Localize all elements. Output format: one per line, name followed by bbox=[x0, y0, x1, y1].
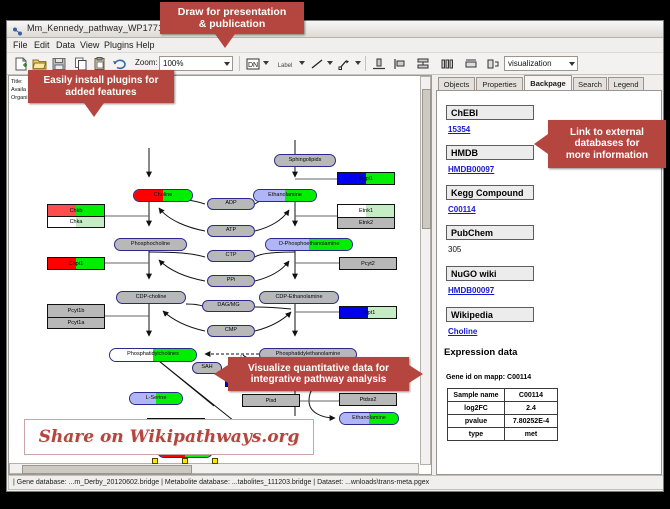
cell-pvalue-val: 7.80252E-4 bbox=[505, 415, 558, 428]
gene-row-pisd[interactable]: Pisd bbox=[243, 395, 299, 406]
menu-data[interactable]: Data bbox=[56, 40, 75, 50]
stack-vertical-icon[interactable] bbox=[415, 56, 431, 72]
callout-share-wikipathways: Share on Wikipathways.org bbox=[24, 419, 314, 455]
gene-row-etnk1[interactable]: Etnk1 bbox=[338, 205, 394, 217]
node-cdp-ethanolamine[interactable]: CDP-Ethanolamine bbox=[259, 291, 339, 304]
gene-row-etnk2[interactable]: Etnk2 bbox=[338, 217, 394, 229]
db-link-wikipedia[interactable]: Choline bbox=[448, 327, 477, 336]
node-cmp[interactable]: CMP bbox=[207, 325, 255, 337]
title-bar: Mm_Kennedy_pathway_WP1771_45176.gpml bbox=[7, 21, 663, 38]
table-row: Sample name C00114 bbox=[448, 389, 558, 402]
gene-box-pisd[interactable]: Pisd bbox=[242, 394, 300, 407]
gene-row-chkb[interactable]: Chkb bbox=[48, 205, 104, 216]
label-dropdown-icon[interactable] bbox=[299, 61, 305, 65]
node-cdp-choline[interactable]: CDP-choline bbox=[116, 291, 186, 304]
arrow-shape-icon[interactable] bbox=[337, 56, 353, 72]
tab-properties[interactable]: Properties bbox=[476, 77, 523, 90]
tab-legend[interactable]: Legend bbox=[608, 77, 644, 90]
gene-box-sgpl1[interactable]: Sgpl1 bbox=[337, 172, 395, 185]
db-link-chebi[interactable]: 15354 bbox=[448, 125, 470, 134]
canvas-info-title: Title: bbox=[11, 79, 23, 85]
screenshot-root: Mm_Kennedy_pathway_WP1771_45176.gpml Fil… bbox=[0, 0, 670, 509]
gene-box-cept1[interactable]: Cept1 bbox=[339, 306, 397, 319]
chevron-down-icon bbox=[569, 62, 575, 66]
cell-sample-name-key: Sample name bbox=[448, 389, 505, 402]
canvas-vscroll-thumb[interactable] bbox=[422, 89, 431, 229]
svg-text:Label: Label bbox=[278, 63, 293, 69]
node-l-serine-left[interactable]: L-Serine bbox=[129, 392, 183, 405]
db-header-nugo-wiki: NuGO wiki bbox=[446, 266, 534, 281]
node-phosphocholine[interactable]: Phosphocholine bbox=[114, 238, 187, 251]
gene-id-line: Gene id on mapp: C00114 bbox=[446, 374, 531, 381]
cell-type-val: met bbox=[505, 428, 558, 441]
tab-search[interactable]: Search bbox=[573, 77, 607, 90]
db-value-pubchem: 305 bbox=[448, 245, 461, 254]
menu-help[interactable]: Help bbox=[136, 40, 155, 50]
cell-log2fc-key: log2FC bbox=[448, 402, 505, 415]
cell-log2fc-val: 2.4 bbox=[505, 402, 558, 415]
gene-row-pcyt1a[interactable]: Pcyt1a bbox=[48, 317, 104, 329]
group-icon[interactable] bbox=[463, 56, 479, 72]
gene-row-chpt1[interactable]: Chpt1 bbox=[48, 258, 104, 269]
callout-arrow-up-icon bbox=[84, 103, 104, 117]
cell-type-key: type bbox=[448, 428, 505, 441]
new-file-icon[interactable] bbox=[13, 56, 29, 72]
node-choline-top[interactable]: Choline bbox=[133, 189, 193, 202]
node-sphingolipids[interactable]: Sphingolipids bbox=[274, 154, 336, 167]
gene-box-etnk[interactable]: Etnk1 Etnk2 bbox=[337, 204, 395, 229]
canvas-info-availa: Availa bbox=[11, 87, 26, 93]
visualization-combo[interactable]: visualization bbox=[504, 56, 578, 71]
cell-pvalue-key: pvalue bbox=[448, 415, 505, 428]
node-phosphatidylcholines[interactable]: Phosphatidylcholines bbox=[109, 348, 197, 362]
db-header-chebi: ChEBI bbox=[446, 105, 534, 120]
expression-data-heading: Expression data bbox=[444, 347, 517, 358]
callout-link-external-db: Link to external databases for more info… bbox=[548, 120, 666, 168]
gene-box-ptdss2[interactable]: Ptdss2 bbox=[339, 393, 397, 406]
node-o-phosphoethanolamine[interactable]: O-Phosphoethanolamine bbox=[265, 238, 353, 251]
menu-file[interactable]: File bbox=[13, 40, 28, 50]
resize-handle-s[interactable] bbox=[182, 458, 188, 464]
callout-install-plugins: Easily install plugins for added feature… bbox=[28, 70, 174, 103]
distribute-icon[interactable] bbox=[439, 56, 455, 72]
node-ethanolamine[interactable]: Ethanolamine bbox=[253, 189, 317, 202]
node-ppi[interactable]: PPi bbox=[207, 275, 255, 287]
callout-arrow-left-2-icon bbox=[214, 365, 228, 383]
align-left-icon[interactable] bbox=[392, 56, 408, 72]
gene-row-pcyt1b[interactable]: Pcyt1b bbox=[48, 305, 104, 317]
line-icon[interactable] bbox=[309, 56, 325, 72]
svg-text:DN: DN bbox=[248, 62, 258, 69]
gene-row-cept1[interactable]: Cept1 bbox=[340, 307, 396, 318]
arrow-dropdown-icon[interactable] bbox=[355, 61, 361, 65]
status-bar: | Gene database: ...m_Derby_20120602.bri… bbox=[8, 475, 664, 490]
line-dropdown-icon[interactable] bbox=[327, 61, 333, 65]
gene-box-chk[interactable]: Chkb Chka bbox=[47, 204, 105, 228]
canvas-hscroll-thumb[interactable] bbox=[22, 465, 192, 474]
align-top-icon[interactable] bbox=[371, 56, 387, 72]
side-panel-tabs: Objects Properties Backpage Search Legen… bbox=[436, 75, 662, 90]
zoom-label: Zoom: bbox=[135, 58, 158, 67]
node-adp[interactable]: ADP bbox=[207, 198, 255, 210]
callout-visualize-quantitative-data: Visualize quantitative data for integrat… bbox=[228, 357, 409, 391]
menu-view[interactable]: View bbox=[80, 40, 99, 50]
datanode-icon[interactable]: DN bbox=[245, 56, 261, 72]
expression-table: Sample name C00114 log2FC 2.4 pvalue 7.8… bbox=[447, 388, 558, 441]
gene-row-ptdss2[interactable]: Ptdss2 bbox=[340, 394, 396, 405]
node-ethanolamine-bottom[interactable]: Ethanolamine bbox=[339, 412, 399, 425]
callout-arrow-right-icon bbox=[409, 365, 423, 383]
resize-handle-sw[interactable] bbox=[152, 458, 158, 464]
table-row: pvalue 7.80252E-4 bbox=[448, 415, 558, 428]
menu-plugins[interactable]: Plugins bbox=[104, 40, 134, 50]
gene-row-pcyt2[interactable]: Pcyt2 bbox=[340, 258, 396, 269]
gene-box-pcyt2[interactable]: Pcyt2 bbox=[339, 257, 397, 270]
chevron-down-icon bbox=[224, 62, 230, 66]
status-text: | Gene database: ...m_Derby_20120602.bri… bbox=[13, 479, 429, 486]
menu-edit[interactable]: Edit bbox=[34, 40, 50, 50]
db-header-wikipedia: Wikipedia bbox=[446, 307, 534, 322]
resize-handle-se[interactable] bbox=[212, 458, 218, 464]
callout-arrow-down-icon bbox=[215, 34, 235, 48]
db-link-kegg-compound[interactable]: C00114 bbox=[448, 205, 476, 214]
zoom-combo[interactable]: 100% bbox=[159, 56, 233, 71]
node-dag-mg[interactable]: DAG/MG bbox=[202, 300, 255, 312]
node-ctp[interactable]: CTP bbox=[207, 250, 255, 262]
canvas-vscrollbar[interactable] bbox=[420, 76, 431, 465]
order-icon[interactable] bbox=[485, 56, 501, 72]
db-header-hmdb: HMDB bbox=[446, 145, 534, 160]
cell-sample-name-val: C00114 bbox=[505, 389, 558, 402]
db-header-kegg-compound: Kegg Compound bbox=[446, 185, 534, 200]
tab-objects[interactable]: Objects bbox=[438, 77, 475, 90]
datanode-dropdown-icon[interactable] bbox=[263, 61, 269, 65]
table-row: type met bbox=[448, 428, 558, 441]
db-header-pubchem: PubChem bbox=[446, 225, 534, 240]
menu-bar: File Edit Data View Plugins Help bbox=[7, 38, 663, 53]
table-row: log2FC 2.4 bbox=[448, 402, 558, 415]
node-atp[interactable]: ATP bbox=[207, 225, 255, 237]
gene-row-sgpl1[interactable]: Sgpl1 bbox=[338, 173, 394, 184]
db-link-hmdb[interactable]: HMDB00097 bbox=[448, 165, 494, 174]
zoom-value: 100% bbox=[163, 59, 183, 68]
label-icon[interactable]: Label bbox=[273, 56, 297, 72]
pathway-canvas[interactable]: Title: Availa Organi bbox=[8, 75, 432, 475]
pathvisio-app-icon bbox=[12, 24, 23, 35]
visualization-value: visualization bbox=[508, 59, 552, 68]
canvas-info-organism: Organi bbox=[11, 95, 28, 101]
db-link-nugo-wiki[interactable]: HMDB00097 bbox=[448, 286, 494, 295]
callout-arrow-left-icon bbox=[534, 134, 548, 154]
canvas-hscrollbar[interactable] bbox=[9, 463, 419, 474]
callout-draw-for-publication: Draw for presentation & publication bbox=[160, 2, 304, 34]
gene-box-chpt1[interactable]: Chpt1 bbox=[47, 257, 105, 270]
gene-box-pcyt1[interactable]: Pcyt1b Pcyt1a bbox=[47, 304, 105, 329]
gene-row-chka[interactable]: Chka bbox=[48, 216, 104, 227]
tab-backpage[interactable]: Backpage bbox=[524, 75, 572, 90]
